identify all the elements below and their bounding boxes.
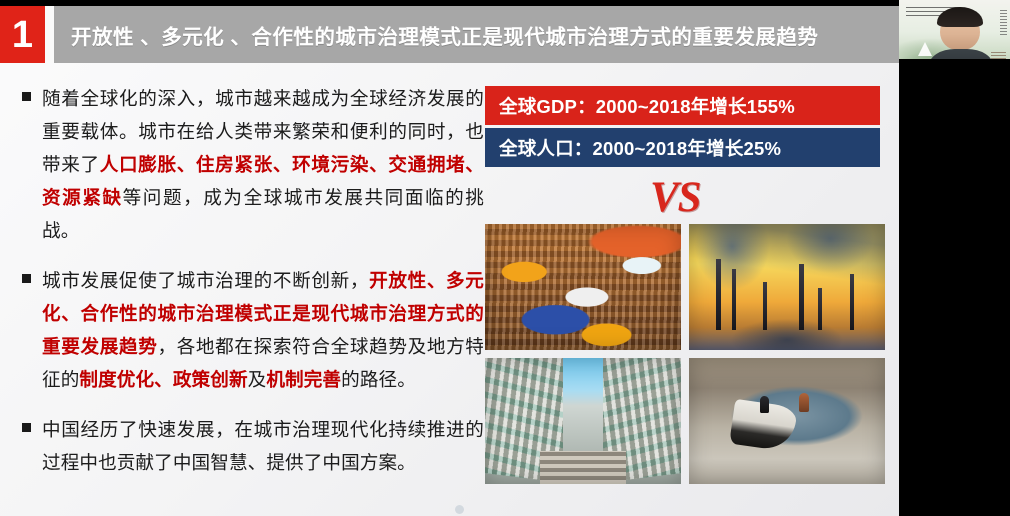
- bullet-item-3: 中国经历了快速发展，在城市治理现代化持续推进的过程中也贡献了中国智慧、提供了中国…: [22, 413, 484, 479]
- bullet-square-icon: [22, 92, 31, 101]
- title-band: 开放性 、多元化 、合作性的城市治理模式正是现代城市治理方式的重要发展趋势: [54, 6, 899, 63]
- photo-water-scarcity: [689, 358, 885, 484]
- photo-vignette: [485, 224, 681, 350]
- presentation-slide: 1 开放性 、多元化 、合作性的城市治理模式正是现代城市治理方式的重要发展趋势 …: [0, 0, 899, 516]
- stat-global-population: 全球人口：2000~2018年增长25%: [485, 128, 880, 167]
- highlighted-text-run: 机制完善: [266, 369, 341, 390]
- photo-vignette: [689, 358, 885, 484]
- photo-vignette: [485, 358, 681, 484]
- highlighted-text-run: 制度优化、政策创新: [79, 369, 247, 390]
- bullet-item-1: 随着全球化的深入，城市越来越成为全球经济发展的重要载体。城市在给人类带来繁荣和便…: [22, 82, 484, 247]
- stat-global-gdp: 全球GDP：2000~2018年增长155%: [485, 86, 880, 125]
- bullet-square-icon: [22, 274, 31, 283]
- text-run: 中国经历了快速发展，在城市治理现代化持续推进的过程中也贡献了中国智慧、提供了中国…: [42, 419, 484, 473]
- background-text-block: [1000, 10, 1007, 36]
- screen-root: 1 开放性 、多元化 、合作性的城市治理模式正是现代城市治理方式的重要发展趋势 …: [0, 0, 1010, 516]
- presenter-hair: [937, 7, 982, 27]
- presenter-video[interactable]: [899, 0, 1010, 76]
- photo-vignette: [689, 224, 885, 350]
- background-pagoda-icon: [918, 42, 932, 56]
- photo-crowded-street: [485, 224, 681, 350]
- text-run: 的路径。: [341, 369, 416, 390]
- slide-body-text: 随着全球化的深入，城市越来越成为全球经济发展的重要载体。城市在给人类带来繁荣和便…: [22, 82, 484, 479]
- title-divider: [45, 6, 54, 63]
- video-letterbox: [899, 59, 1010, 76]
- meeting-side-panel: [899, 0, 1010, 516]
- section-number-label: 1: [12, 16, 33, 54]
- section-number-badge: 1: [0, 6, 45, 63]
- photo-grid: [485, 224, 880, 484]
- slide-right-column: 全球GDP：2000~2018年增长155% 全球人口：2000~2018年增长…: [485, 86, 880, 484]
- versus-label: VS: [650, 173, 701, 222]
- bullet-item-2: 城市发展促使了城市治理的不断创新，开放性、多元化、合作性的城市治理模式正是现代城…: [22, 264, 484, 396]
- bullet-square-icon: [22, 423, 31, 432]
- bullet-text-1: 随着全球化的深入，城市越来越成为全球经济发展的重要载体。城市在给人类带来繁荣和便…: [42, 82, 484, 247]
- photo-industrial-pollution: [689, 224, 885, 350]
- stat-global-population-label: 全球人口：2000~2018年增长25%: [499, 135, 781, 161]
- bullet-text-3: 中国经历了快速发展，在城市治理现代化持续推进的过程中也贡献了中国智慧、提供了中国…: [42, 413, 484, 479]
- page-title: 开放性 、多元化 、合作性的城市治理模式正是现代城市治理方式的重要发展趋势: [71, 20, 818, 50]
- stat-global-gdp-label: 全球GDP：2000~2018年增长155%: [499, 93, 795, 119]
- versus-row: VS: [485, 167, 880, 224]
- scroll-indicator[interactable]: [455, 505, 464, 514]
- bullet-text-2: 城市发展促使了城市治理的不断创新，开放性、多元化、合作性的城市治理模式正是现代城…: [42, 264, 484, 396]
- photo-dense-housing: [485, 358, 681, 484]
- text-run: 城市发展促使了城市治理的不断创新，: [42, 270, 369, 291]
- slide-title-bar: 1 开放性 、多元化 、合作性的城市治理模式正是现代城市治理方式的重要发展趋势: [0, 6, 899, 63]
- text-run: 及: [248, 369, 267, 390]
